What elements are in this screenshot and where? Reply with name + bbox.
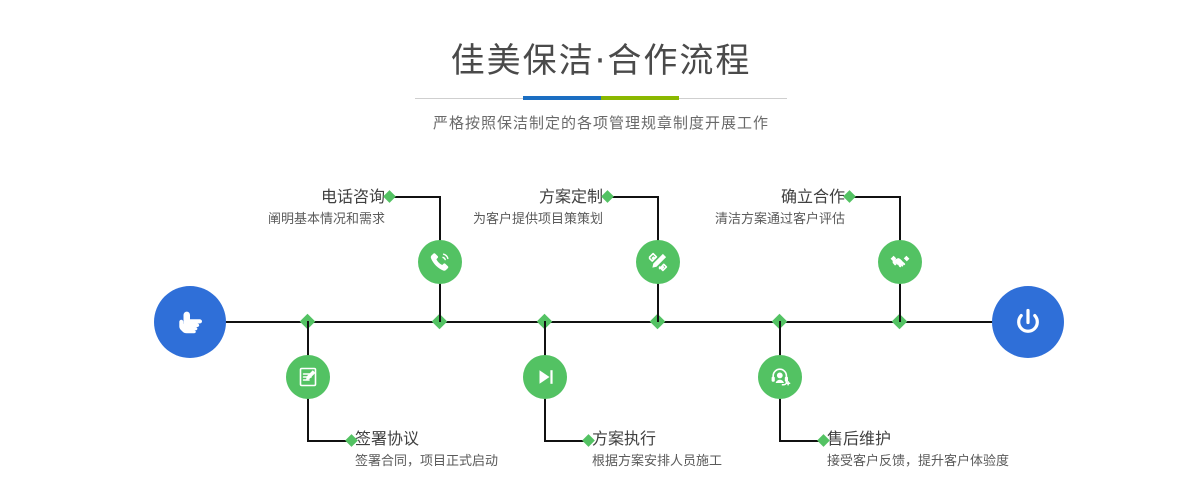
step-title-1: 电话咨询	[185, 186, 385, 208]
step-desc-1: 阐明基本情况和需求	[185, 210, 385, 230]
step-label-2: 签署协议 签署合同，项目正式启动	[355, 428, 595, 472]
step-label-6: 售后维护 接受客户反馈，提升客户体验度	[827, 428, 1087, 472]
step-icon-node-2[interactable]	[286, 355, 330, 399]
divider-segment-blue	[523, 96, 601, 100]
header: 佳美保洁·合作流程 严格按照保洁制定的各项管理规章制度开展工作	[0, 0, 1202, 133]
pointing-hand-icon	[170, 302, 210, 342]
step-icon-node-5[interactable]	[878, 240, 922, 284]
step-icon-node-4[interactable]	[523, 355, 567, 399]
document-sign-icon	[295, 364, 321, 390]
handshake-icon	[887, 249, 913, 275]
timeline-end-node	[992, 286, 1064, 358]
connector-horizontal-5	[849, 196, 901, 198]
step-icon-node-3[interactable]	[636, 240, 680, 284]
power-icon	[1008, 302, 1048, 342]
step-title-5: 确立合作	[640, 186, 845, 208]
title-divider	[415, 96, 787, 100]
divider-segment-green	[601, 96, 679, 100]
step-title-6: 售后维护	[827, 428, 1087, 450]
timeline-axis	[195, 321, 1035, 323]
phone-call-icon	[427, 249, 453, 275]
step-desc-3: 为客户提供项目策策划	[400, 210, 603, 230]
step-icon-node-1[interactable]	[418, 240, 462, 284]
timeline-start-node	[154, 286, 226, 358]
pencil-ruler-icon	[645, 249, 671, 275]
page-title: 佳美保洁·合作流程	[0, 40, 1202, 82]
step-desc-6: 接受客户反馈，提升客户体验度	[827, 452, 1087, 472]
step-label-5: 确立合作 清洁方案通过客户评估	[640, 186, 845, 230]
step-icon-node-6[interactable]	[758, 355, 802, 399]
step-label-3: 方案定制 为客户提供项目策策划	[400, 186, 603, 230]
step-title-4: 方案执行	[592, 428, 822, 450]
play-next-icon	[532, 364, 558, 390]
connector-tip-5	[843, 190, 856, 203]
step-desc-2: 签署合同，项目正式启动	[355, 452, 595, 472]
step-label-4: 方案执行 根据方案安排人员施工	[592, 428, 822, 472]
step-desc-4: 根据方案安排人员施工	[592, 452, 822, 472]
step-label-1: 电话咨询 阐明基本情况和需求	[185, 186, 385, 230]
customer-support-icon	[767, 364, 793, 390]
step-title-2: 签署协议	[355, 428, 595, 450]
step-desc-5: 清洁方案通过客户评估	[640, 210, 845, 230]
connector-tip-3	[601, 190, 614, 203]
step-title-3: 方案定制	[400, 186, 603, 208]
process-flow-infographic: 佳美保洁·合作流程 严格按照保洁制定的各项管理规章制度开展工作	[0, 0, 1202, 502]
page-subtitle: 严格按照保洁制定的各项管理规章制度开展工作	[0, 112, 1202, 133]
connector-tip-1	[383, 190, 396, 203]
